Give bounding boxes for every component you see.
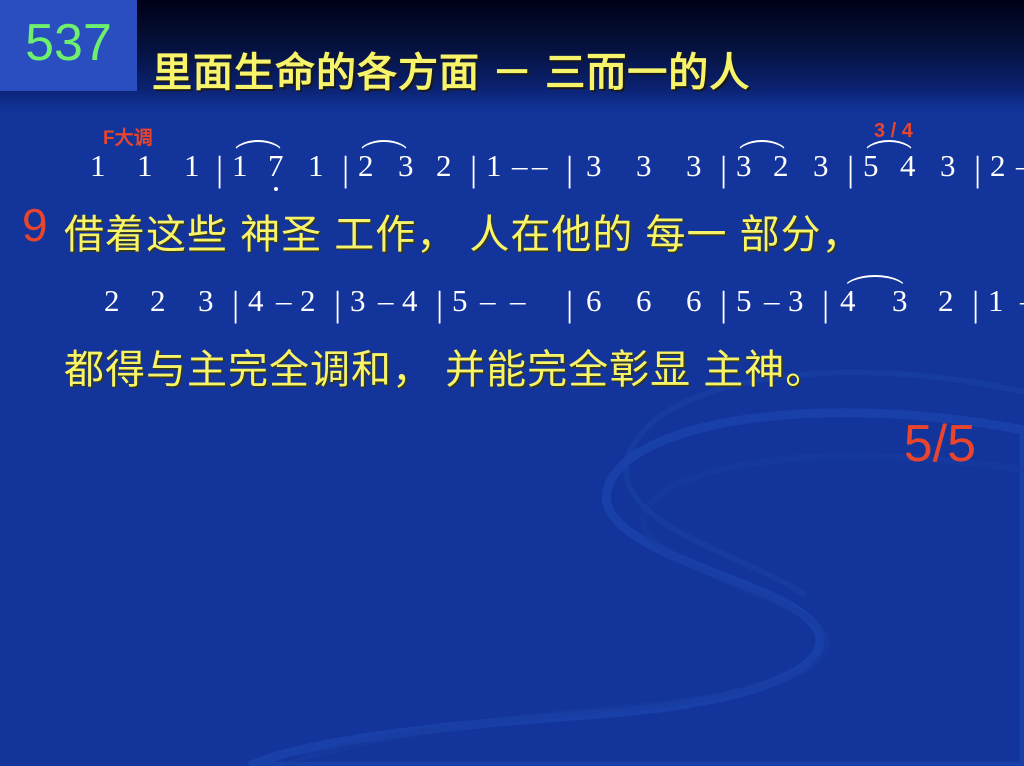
- barline: |: [342, 148, 349, 190]
- slur-mark: [736, 140, 788, 155]
- lyric-line-1: 借着这些 神圣 工作， 人在他的 每一 部分，: [64, 202, 863, 260]
- hymn-number: 537: [25, 17, 112, 75]
- note-token: 2: [938, 283, 954, 319]
- note-token: –: [512, 148, 528, 184]
- hymn-number-box: 537: [0, 0, 137, 91]
- slide-canvas: 537 里面生命的各方面 － 三而一的人 F大调 3 / 4 9 111|171…: [0, 0, 1024, 766]
- note-token: –: [510, 283, 526, 319]
- slur-mark: [358, 140, 410, 155]
- note-token: 6: [686, 283, 702, 319]
- note-token: –: [276, 283, 292, 319]
- note-token: 3: [636, 148, 652, 184]
- note-token: 1: [184, 148, 200, 184]
- note-token: 6: [586, 283, 602, 319]
- note-token: 3: [686, 148, 702, 184]
- note-token: 3: [813, 148, 829, 184]
- note-token: 5: [452, 283, 468, 319]
- note-token: 6: [636, 283, 652, 319]
- barline: |: [436, 283, 443, 325]
- barline: |: [720, 283, 727, 325]
- note-token: 1: [90, 148, 106, 184]
- note-token: 3: [198, 283, 214, 319]
- note-token: –: [1016, 148, 1024, 184]
- note-token: –: [1020, 283, 1024, 319]
- note-token: 1: [486, 148, 502, 184]
- note-token: 2: [300, 283, 316, 319]
- page-title: 里面生命的各方面 － 三而一的人: [152, 40, 750, 98]
- slur-mark: [843, 275, 907, 290]
- note-token: 1: [137, 148, 153, 184]
- note-token: 2: [990, 148, 1006, 184]
- page-indicator: 5/5: [904, 418, 976, 470]
- note-token: 4: [248, 283, 264, 319]
- note-token: –: [378, 283, 394, 319]
- note-token: 1: [988, 283, 1004, 319]
- note-token: 4: [402, 283, 418, 319]
- barline: |: [974, 148, 981, 190]
- barline: |: [972, 283, 979, 325]
- barline: |: [470, 148, 477, 190]
- barline: |: [232, 283, 239, 325]
- slur-mark: [863, 140, 915, 155]
- note-token: 2: [104, 283, 120, 319]
- note-token: 3: [586, 148, 602, 184]
- note-token: 2: [436, 148, 452, 184]
- barline: |: [216, 148, 223, 190]
- lyric-line-2: 都得与主完全调和， 并能完全彰显 主神。: [64, 337, 826, 395]
- notation-line-1: 111|171|232|1––|333|323|543|2––|: [80, 140, 990, 192]
- barline: |: [720, 148, 727, 190]
- note-token: 1: [308, 148, 324, 184]
- note-token: 5: [736, 283, 752, 319]
- note-token: 2: [150, 283, 166, 319]
- barline: |: [566, 283, 573, 325]
- note-token: –: [764, 283, 780, 319]
- note-token: –: [532, 148, 548, 184]
- verse-number: 9: [22, 202, 48, 248]
- note-token: 3: [788, 283, 804, 319]
- barline: |: [847, 148, 854, 190]
- barline: |: [334, 283, 341, 325]
- note-token: 3: [940, 148, 956, 184]
- barline: |: [566, 148, 573, 190]
- note-token: 3: [350, 283, 366, 319]
- note-token: –: [480, 283, 496, 319]
- slur-mark: [232, 140, 284, 155]
- notation-line-2: 223|4–2|3–4|5––|666|5–3|432|1––‖: [80, 275, 990, 327]
- barline: |: [822, 283, 829, 325]
